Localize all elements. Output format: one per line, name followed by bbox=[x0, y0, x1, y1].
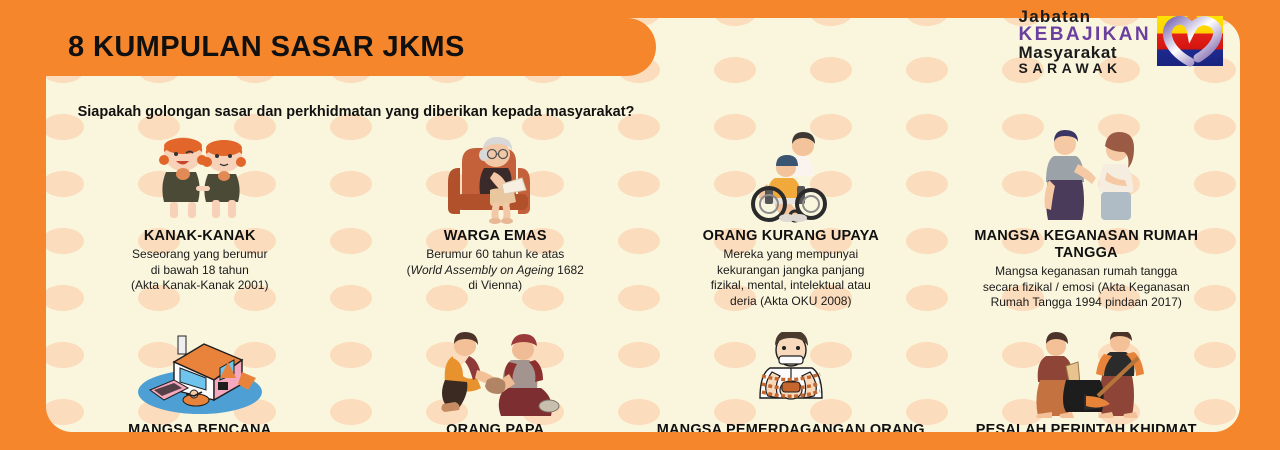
flooded-house-illustration bbox=[130, 320, 270, 418]
card-title: MANGSA BENCANA bbox=[128, 422, 271, 432]
heart-swoosh-emblem bbox=[1154, 10, 1228, 72]
card-description: Mereka yang mempunyai kekurangan jangka … bbox=[711, 247, 871, 309]
logo-line-sarawak: SARAWAK bbox=[1019, 61, 1151, 75]
card-title: WARGA EMAS bbox=[444, 228, 547, 245]
card-title: MANGSA KEGANASAN RUMAH TANGGA bbox=[947, 228, 1227, 262]
card-mangsa-bencana[interactable]: MANGSA BENCANA Orang yang ditimpa bencan… bbox=[52, 316, 348, 432]
card-title: ORANG PAPA bbox=[446, 422, 544, 432]
card-description: Berumur 60 tahun ke atas (World Assembly… bbox=[407, 247, 584, 294]
community-service-cleanup-illustration bbox=[1016, 320, 1156, 418]
card-orang-kurang-upaya[interactable]: ORANG KURANG UPAYA Mereka yang mempunyai… bbox=[643, 126, 939, 316]
logo-wordmark: Jabatan KEBAJIKAN Masyarakat SARAWAK bbox=[1019, 8, 1151, 75]
card-mangsa-keganasan-rumah-tangga[interactable]: MANGSA KEGANASAN RUMAH TANGGA Mangsa keg… bbox=[939, 126, 1235, 316]
logo-line-jabatan: Jabatan bbox=[1019, 8, 1151, 25]
poster-title-banner: 8 KUMPULAN SASAR JKMS bbox=[0, 18, 656, 76]
card-pesalah-perintah-khidmat-masyarakat[interactable]: PESALAH PERINTAH KHIDMAT MASYARAKAT Pesa… bbox=[939, 316, 1235, 432]
card-title: ORANG KURANG UPAYA bbox=[703, 228, 879, 245]
wheelchair-user-illustration bbox=[729, 126, 853, 224]
two-children-illustration bbox=[140, 126, 260, 224]
subtitle-question: Siapakah golongan sasar dan perkhidmatan… bbox=[76, 102, 636, 123]
logo-line-kebajikan: KEBAJIKAN bbox=[1019, 25, 1151, 44]
jkms-logo: Jabatan KEBAJIKAN Masyarakat SARAWAK bbox=[1019, 8, 1228, 75]
logo-line-masyarakat: Masyarakat bbox=[1019, 44, 1151, 61]
content-panel: Siapakah golongan sasar dan perkhidmatan… bbox=[46, 18, 1240, 432]
card-mangsa-pemerdagangan-orang[interactable]: MANGSA PEMERDAGANGAN ORANG Mana-mana ora… bbox=[643, 316, 939, 432]
card-title: MANGSA PEMERDAGANGAN ORANG bbox=[657, 422, 925, 432]
card-title: PESALAH PERINTAH KHIDMAT MASYARAKAT bbox=[947, 422, 1227, 432]
card-title: KANAK-KANAK bbox=[144, 228, 256, 245]
infographic-poster: Siapakah golongan sasar dan perkhidmatan… bbox=[0, 0, 1280, 450]
card-description: Mangsa keganasan rumah tangga secara fiz… bbox=[983, 264, 1190, 311]
card-description: Seseorang yang berumur di bawah 18 tahun… bbox=[131, 247, 268, 294]
page-title: 8 KUMPULAN SASAR JKMS bbox=[68, 31, 465, 64]
elderly-in-armchair-illustration bbox=[434, 126, 556, 224]
card-kanak-kanak[interactable]: KANAK-KANAK Seseorang yang berumur di ba… bbox=[52, 126, 348, 316]
domestic-violence-illustration bbox=[1021, 126, 1151, 224]
bound-person-illustration bbox=[732, 320, 850, 418]
giving-alms-illustration bbox=[425, 320, 565, 418]
card-warga-emas[interactable]: WARGA EMAS Berumur 60 tahun ke atas (Wor… bbox=[348, 126, 644, 316]
target-groups-grid: KANAK-KANAK Seseorang yang berumur di ba… bbox=[46, 18, 1240, 432]
card-orang-papa[interactable]: ORANG PAPA Seseorang yang mengemis atau … bbox=[348, 316, 644, 432]
